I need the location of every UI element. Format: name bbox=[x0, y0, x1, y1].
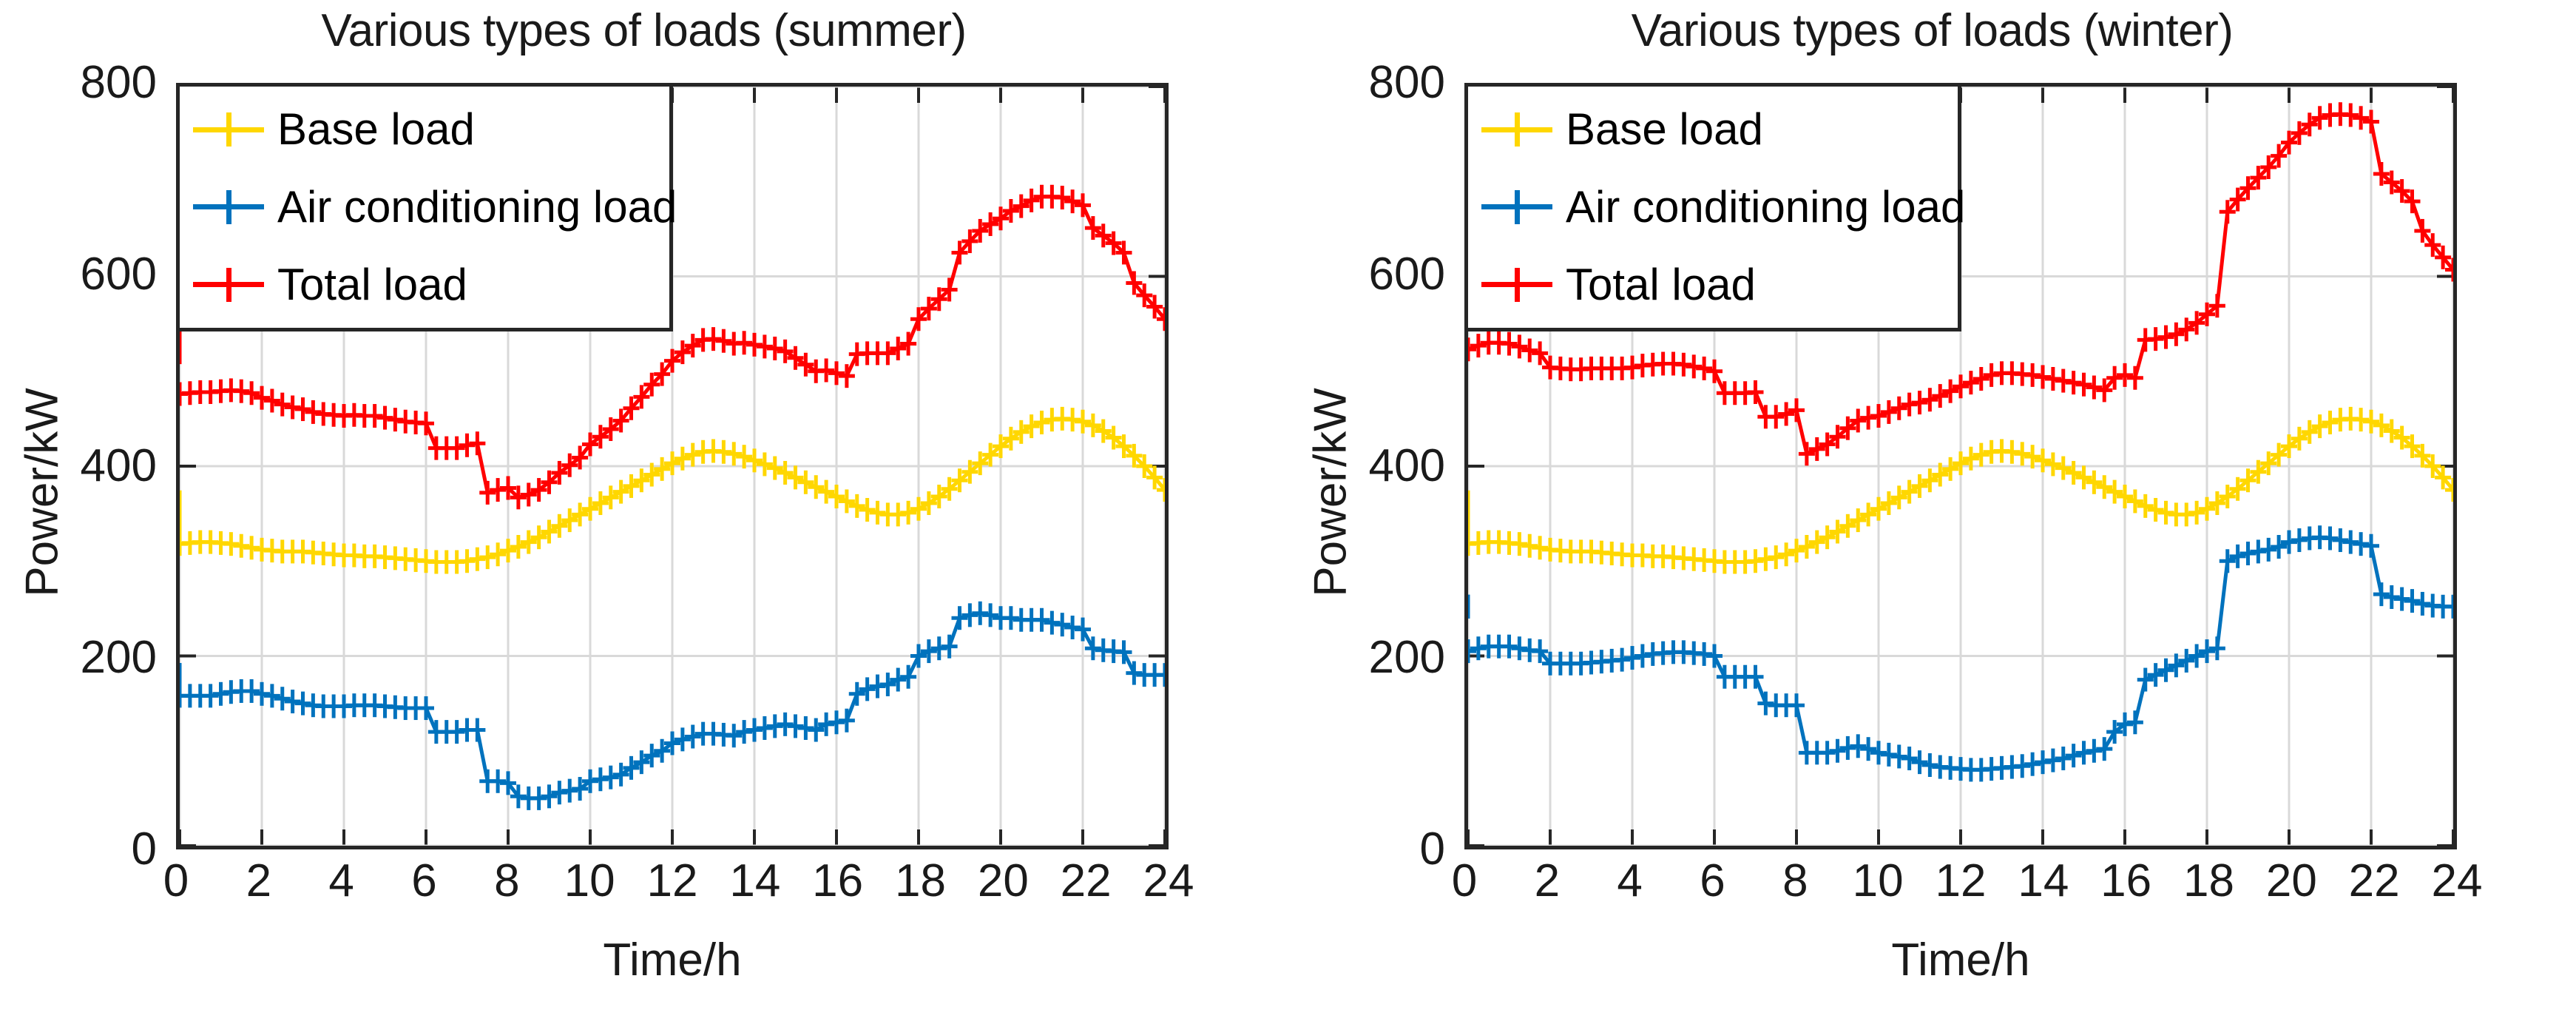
x-tick-label: 4 bbox=[328, 858, 354, 904]
page-title-winter: Various types of loads (winter) bbox=[1288, 4, 2576, 57]
legend-item-air-conditioning-load[interactable]: Air conditioning load bbox=[180, 170, 669, 244]
legend-item-label: Air conditioning load bbox=[277, 185, 677, 229]
plus-marker-icon bbox=[1481, 185, 1552, 229]
x-tick-labels-winter: 024681012141618202224 bbox=[1464, 858, 2457, 918]
legend-item-total-load[interactable]: Total load bbox=[180, 248, 669, 322]
legend-item-label: Base load bbox=[277, 107, 475, 152]
x-tick-label: 18 bbox=[2183, 858, 2234, 904]
y-tick-label: 600 bbox=[1369, 252, 1445, 297]
y-tick-labels-summer: 0200400600800 bbox=[0, 83, 157, 849]
x-tick-label: 18 bbox=[895, 858, 946, 904]
legend-summer: Base load Air conditioning load Total lo… bbox=[176, 83, 673, 331]
data-series bbox=[180, 407, 1165, 574]
x-tick-label: 8 bbox=[494, 858, 519, 904]
data-series bbox=[180, 602, 1165, 810]
x-axis-label-winter: Time/h bbox=[1464, 934, 2457, 986]
x-tick-label: 12 bbox=[647, 858, 698, 904]
y-tick-label: 800 bbox=[81, 60, 157, 106]
plus-marker-icon bbox=[193, 185, 264, 229]
legend-item-label: Total load bbox=[277, 263, 467, 307]
chart-panel-winter: Various types of loads (winter) Power/kW… bbox=[1288, 0, 2576, 1010]
legend-item-label: Base load bbox=[1566, 107, 1763, 152]
x-tick-label: 20 bbox=[2266, 858, 2317, 904]
legend-item-air-conditioning-load[interactable]: Air conditioning load bbox=[1468, 170, 1958, 244]
x-tick-label: 14 bbox=[2018, 858, 2069, 904]
x-axis-label-summer: Time/h bbox=[176, 934, 1169, 986]
data-series bbox=[1468, 525, 2453, 781]
legend-item-base-load[interactable]: Base load bbox=[180, 92, 669, 166]
y-tick-label: 400 bbox=[1369, 443, 1445, 489]
plus-marker-icon bbox=[1481, 107, 1552, 152]
plus-marker-icon bbox=[193, 263, 264, 307]
plus-marker-icon bbox=[1481, 263, 1552, 307]
x-tick-label: 12 bbox=[1936, 858, 1987, 904]
x-tick-label: 0 bbox=[163, 858, 189, 904]
x-tick-label: 22 bbox=[2349, 858, 2400, 904]
legend-item-base-load[interactable]: Base load bbox=[1468, 92, 1958, 166]
x-tick-label: 2 bbox=[1535, 858, 1560, 904]
y-tick-label: 800 bbox=[1369, 60, 1445, 106]
x-tick-label: 22 bbox=[1061, 858, 1112, 904]
x-tick-label: 6 bbox=[1700, 858, 1725, 904]
x-tick-label: 24 bbox=[2432, 858, 2483, 904]
legend-item-label: Air conditioning load bbox=[1566, 185, 1965, 229]
x-tick-label: 0 bbox=[1452, 858, 1477, 904]
chart-panel-summer: Various types of loads (summer) Power/kW… bbox=[0, 0, 1288, 1010]
y-tick-label: 0 bbox=[1420, 826, 1445, 872]
x-tick-label: 16 bbox=[2100, 858, 2151, 904]
y-tick-label: 200 bbox=[81, 635, 157, 681]
x-tick-label: 10 bbox=[564, 858, 615, 904]
y-tick-label: 400 bbox=[81, 443, 157, 489]
y-tick-label: 0 bbox=[132, 826, 157, 872]
y-tick-label: 600 bbox=[81, 252, 157, 297]
x-tick-label: 4 bbox=[1617, 858, 1642, 904]
legend-winter: Base load Air conditioning load Total lo… bbox=[1464, 83, 1961, 331]
x-tick-label: 14 bbox=[729, 858, 780, 904]
x-tick-label: 2 bbox=[246, 858, 271, 904]
x-tick-label: 20 bbox=[978, 858, 1029, 904]
x-tick-label: 6 bbox=[411, 858, 436, 904]
y-tick-label: 200 bbox=[1369, 635, 1445, 681]
x-tick-label: 16 bbox=[812, 858, 863, 904]
legend-item-total-load[interactable]: Total load bbox=[1468, 248, 1958, 322]
data-series bbox=[1468, 407, 2453, 574]
page-title-summer: Various types of loads (summer) bbox=[0, 4, 1288, 57]
legend-item-label: Total load bbox=[1566, 263, 1756, 307]
y-tick-labels-winter: 0200400600800 bbox=[1288, 83, 1445, 849]
x-tick-label: 10 bbox=[1853, 858, 1904, 904]
figure-root: Various types of loads (summer) Power/kW… bbox=[0, 0, 2576, 1010]
plus-marker-icon bbox=[193, 107, 264, 152]
x-tick-label: 24 bbox=[1143, 858, 1194, 904]
x-tick-label: 8 bbox=[1782, 858, 1808, 904]
x-tick-labels-summer: 024681012141618202224 bbox=[176, 858, 1169, 918]
